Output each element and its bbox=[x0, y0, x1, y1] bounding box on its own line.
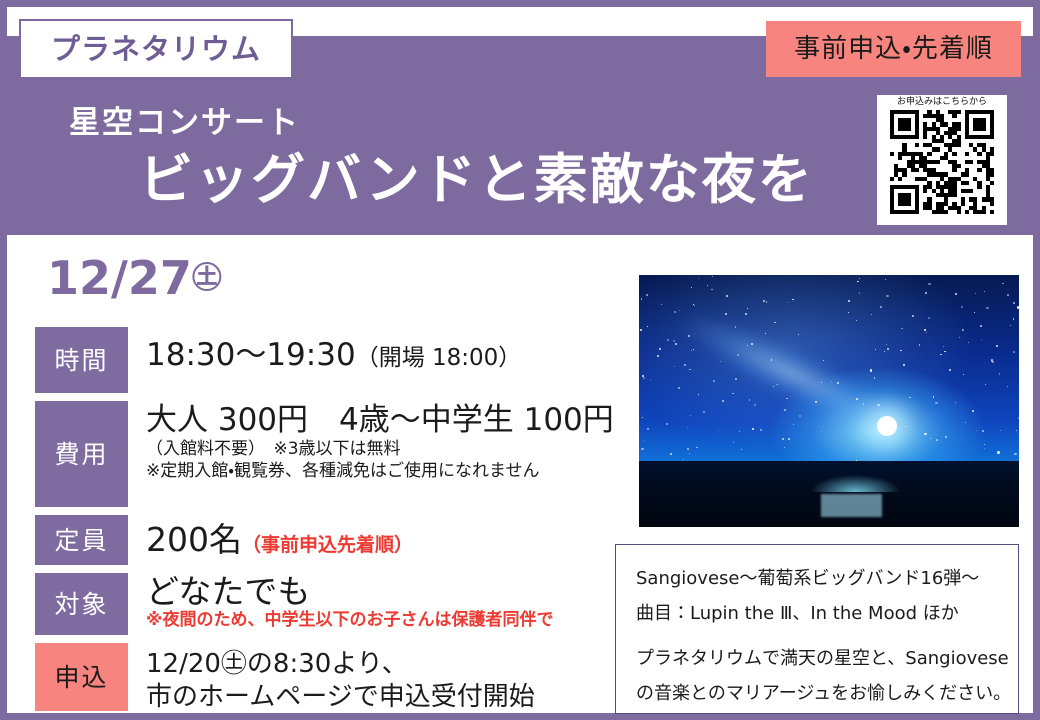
event-main-title: ビッグバンドと素敵な夜を bbox=[139, 153, 814, 207]
event-date: 12/27㊏ bbox=[47, 255, 222, 301]
qr-caption: お申込みはこちらから bbox=[897, 98, 987, 107]
description-line-2: 曲目：Lupin the Ⅲ、In the Mood ほか bbox=[636, 596, 1002, 631]
capacity-note: （事前申込先着順） bbox=[242, 534, 413, 556]
info-value-target: どなたでも ※夜間のため、中学生以下のお子さんは保護者同伴で bbox=[128, 573, 635, 632]
info-table: 時間 18:30〜19:30（開場 18:00） 費用 大人 300円 4歳〜中… bbox=[35, 327, 635, 711]
description-line-1: Sangiovese〜葡萄系ビッグバンド16弾〜 bbox=[636, 561, 1002, 596]
fee-note-2: ※定期入館・観覧券、各種減免はご使用になれません bbox=[146, 460, 635, 482]
target-value: どなたでも bbox=[146, 574, 635, 610]
time-open: （開場 18:00） bbox=[356, 345, 522, 371]
qr-code-icon[interactable] bbox=[890, 110, 994, 214]
category-tab: プラネタリウム bbox=[19, 19, 293, 79]
photo-stage-light bbox=[821, 494, 882, 517]
photo-moon bbox=[877, 416, 897, 436]
event-subtitle: 星空コンサート bbox=[69, 108, 300, 139]
apply-line-1: 12/20㊏の8:30より、 bbox=[146, 648, 635, 681]
category-tab-label: プラネタリウム bbox=[51, 35, 261, 64]
qr-card[interactable]: お申込みはこちらから bbox=[877, 95, 1007, 225]
description-line-3: プラネタリウムで満天の星空と、Sangiovese bbox=[636, 641, 1002, 676]
notice-badge-label: 事前申込・先着順 bbox=[794, 36, 993, 62]
event-poster: プラネタリウム 事前申込・先着順 星空コンサート ビッグバンドと素敵な夜を お申… bbox=[0, 0, 1040, 720]
info-row-time: 時間 18:30〜19:30（開場 18:00） bbox=[35, 327, 635, 393]
fee-value: 大人 300円 4歳〜中学生 100円 bbox=[146, 403, 635, 438]
notice-badge: 事前申込・先着順 bbox=[766, 21, 1021, 77]
info-value-fee: 大人 300円 4歳〜中学生 100円 （入館料不要） ※3歳以下は無料 ※定期… bbox=[128, 401, 635, 482]
info-row-fee: 費用 大人 300円 4歳〜中学生 100円 （入館料不要） ※3歳以下は無料 … bbox=[35, 401, 635, 507]
capacity-number: 200名 bbox=[146, 520, 242, 559]
info-label-apply: 申込 bbox=[35, 643, 128, 711]
info-label-capacity: 定員 bbox=[35, 515, 128, 565]
time-range: 18:30〜19:30 bbox=[146, 337, 356, 373]
info-value-apply: 12/20㊏の8:30より、 市のホームページで申込受付開始 bbox=[128, 643, 635, 715]
info-value-time: 18:30〜19:30（開場 18:00） bbox=[128, 327, 635, 373]
event-date-dow: ㊏ bbox=[192, 261, 222, 296]
info-row-capacity: 定員 200名（事前申込先着順） bbox=[35, 515, 635, 565]
event-date-number: 12/27 bbox=[47, 251, 192, 305]
fee-note-1: （入館料不要） ※3歳以下は無料 bbox=[146, 438, 635, 460]
info-row-target: 対象 どなたでも ※夜間のため、中学生以下のお子さんは保護者同伴で bbox=[35, 573, 635, 635]
capacity-value: 200名（事前申込先着順） bbox=[146, 522, 635, 558]
target-red-note: ※夜間のため、中学生以下のお子さんは保護者同伴で bbox=[146, 610, 635, 631]
description-box: Sangiovese〜葡萄系ビッグバンド16弾〜 曲目：Lupin the Ⅲ、… bbox=[615, 544, 1019, 714]
apply-line-2: 市のホームページで申込受付開始 bbox=[146, 681, 635, 714]
description-gap bbox=[636, 631, 1002, 641]
photo-horizon-glow bbox=[791, 451, 920, 491]
description-line-4: の音楽とのマリアージュをお愉しみください。 bbox=[636, 676, 1002, 711]
time-value: 18:30〜19:30（開場 18:00） bbox=[146, 338, 635, 373]
info-value-capacity: 200名（事前申込先着順） bbox=[128, 515, 635, 558]
info-label-time: 時間 bbox=[35, 327, 128, 393]
info-row-apply: 申込 12/20㊏の8:30より、 市のホームページで申込受付開始 bbox=[35, 643, 635, 711]
info-label-fee: 費用 bbox=[35, 401, 128, 507]
planetarium-photo bbox=[639, 275, 1019, 527]
info-label-target: 対象 bbox=[35, 573, 128, 635]
